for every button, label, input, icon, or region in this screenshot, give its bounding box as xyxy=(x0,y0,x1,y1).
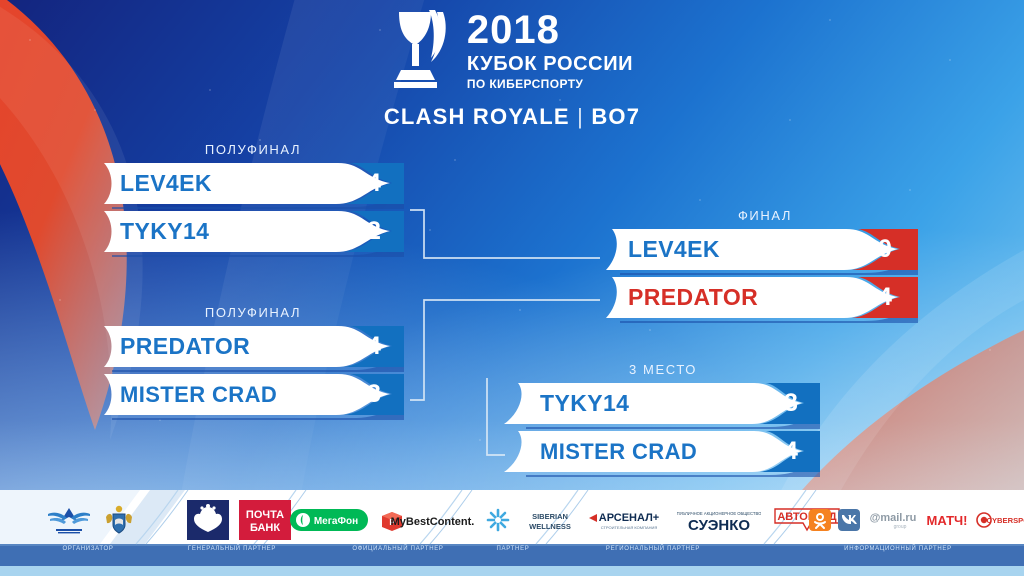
avtograd-logo[interactable]: АВТОГРАД xyxy=(771,506,843,534)
team-name: LEV4EK xyxy=(120,163,212,204)
team-name: PREDATOR xyxy=(120,326,250,367)
pochta-bank-logo[interactable]: ПОЧТА БАНК xyxy=(239,500,291,540)
bracket-row[interactable]: PREDATOR 4 xyxy=(606,277,918,318)
svg-text:MyBestContent.ru: MyBestContent.ru xyxy=(391,516,474,528)
svg-text:МегаФон: МегаФон xyxy=(314,516,358,527)
suenko-logo[interactable]: ПУБЛИЧНОЕ АКЦИОНЕРНОЕ ОБЩЕСТВО СУЭНКО xyxy=(677,506,761,534)
sponsor-labels: ОРГАНИЗАТОР ГЕНЕРАЛЬНЫЙ ПАРТНЕР ОФИЦИАЛЬ… xyxy=(0,546,1024,560)
team-name: PREDATOR xyxy=(628,277,758,318)
connector-to-third-place xyxy=(487,378,505,455)
bracket-row[interactable]: PREDATOR 4 xyxy=(104,326,404,367)
team-score: 4 xyxy=(354,326,394,367)
team-score: 0 xyxy=(864,229,906,270)
trophy-cup-icon xyxy=(391,8,453,92)
team-score: 4 xyxy=(354,163,394,204)
sponsor-bar: ПОЧТА БАНК МегаФон xyxy=(0,490,1024,576)
russia-eagle-emblem-logo[interactable] xyxy=(187,500,229,540)
match-third-place: TYKY14 3 MISTER CRAD 4 xyxy=(504,383,820,479)
mybestcontent-logo[interactable]: P MyBestContent.ru xyxy=(378,508,474,532)
cybersport-ru-logo[interactable]: CYBERSPORT.RU xyxy=(975,510,1024,530)
sponsor-logos: ПОЧТА БАНК МегаФон xyxy=(0,496,1024,544)
team-score: 3 xyxy=(770,383,812,424)
mailru-group-logo[interactable]: @mail.ru group xyxy=(867,509,919,531)
connector-semifinal1-to-final xyxy=(410,210,600,258)
bracket-row[interactable]: TYKY14 3 xyxy=(504,383,820,424)
header: 2018 КУБОК РОССИИ ПО КИБЕРСПОРТУ CLASH R… xyxy=(0,8,1024,130)
svg-text:СТРОИТЕЛЬНАЯ КОМПАНИЯ: СТРОИТЕЛЬНАЯ КОМПАНИЯ xyxy=(601,525,658,530)
federation-esports-russia-logo[interactable] xyxy=(46,505,92,535)
svg-text:SIBERIAN: SIBERIAN xyxy=(532,512,568,521)
team-name: MISTER CRAD xyxy=(120,374,277,415)
bracket-row[interactable]: MISTER CRAD 4 xyxy=(504,431,820,472)
svg-text:CYBERSPORT.RU: CYBERSPORT.RU xyxy=(987,516,1024,525)
stage-label-semifinal-2: ПОЛУФИНАЛ xyxy=(108,305,398,320)
sponsor-label-organizer: ОРГАНИЗАТОР xyxy=(62,546,113,552)
svg-text:ПОЧТА: ПОЧТА xyxy=(246,509,284,521)
svg-text:СУЭНКО: СУЭНКО xyxy=(688,517,750,534)
sponsor-label-general-partner: ГЕНЕРАЛЬНЫЙ ПАРТНЕР xyxy=(188,546,276,552)
team-name: TYKY14 xyxy=(120,211,209,252)
arsenal-plus-logo[interactable]: АРСЕНАЛ+ СТРОИТЕЛЬНАЯ КОМПАНИЯ xyxy=(587,507,667,533)
svg-text:МАТЧ!: МАТЧ! xyxy=(927,513,968,528)
odnoklassniki-logo[interactable] xyxy=(809,509,831,531)
svg-text:БАНК: БАНК xyxy=(250,522,280,534)
sponsor-label-official-partner: ОФИЦИАЛЬНЫЙ ПАРТНЕР xyxy=(352,546,443,552)
svg-text:АРСЕНАЛ+: АРСЕНАЛ+ xyxy=(599,512,659,524)
game-separator: | xyxy=(577,104,584,129)
bracket-row[interactable]: TYKY14 2 xyxy=(104,211,404,252)
svg-text:group: group xyxy=(894,524,907,530)
sponsor-group-regional-partner: АРСЕНАЛ+ СТРОИТЕЛЬНАЯ КОМПАНИЯ ПУБЛИЧНОЕ… xyxy=(596,496,834,544)
game-name: CLASH ROYALE xyxy=(384,104,570,129)
sponsor-group-info-partner: @mail.ru group МАТЧ! CYBERSPORT.RU xyxy=(834,496,1024,544)
bracket-row[interactable]: LEV4EK 4 xyxy=(104,163,404,204)
stage-label-semifinal-1: ПОЛУФИНАЛ xyxy=(108,142,398,157)
team-name: LEV4EK xyxy=(628,229,720,270)
sponsor-group-partner: SIBERIAN WELLNESS xyxy=(468,496,596,544)
siberian-wellness-logo[interactable]: SIBERIAN WELLNESS xyxy=(480,506,584,534)
sponsor-label-partner: ПАРТНЕР xyxy=(497,546,530,552)
svg-text:WELLNESS: WELLNESS xyxy=(529,522,571,531)
bracket-row[interactable]: LEV4EK 0 xyxy=(606,229,918,270)
game-format: BO7 xyxy=(591,104,640,129)
tyumen-region-coat-of-arms-logo[interactable] xyxy=(102,503,136,537)
match-semifinal-1: LEV4EK 4 TYKY14 2 xyxy=(104,163,404,259)
sponsor-group-organizer xyxy=(0,496,182,544)
svg-text:ПУБЛИЧНОЕ АКЦИОНЕРНОЕ ОБЩЕСТВО: ПУБЛИЧНОЕ АКЦИОНЕРНОЕ ОБЩЕСТВО xyxy=(677,511,761,516)
svg-text:@mail.ru: @mail.ru xyxy=(870,512,917,524)
sponsor-label-regional-partner: РЕГИОНАЛЬНЫЙ ПАРТНЕР xyxy=(606,546,700,552)
sponsor-group-general-partner: ПОЧТА БАНК xyxy=(182,496,296,544)
megafon-logo[interactable]: МегаФон xyxy=(290,509,368,531)
team-score: 3 xyxy=(354,374,394,415)
team-score: 4 xyxy=(864,277,906,318)
cup-subtitle: ПО КИБЕРСПОРТУ xyxy=(467,78,633,90)
bracket-row[interactable]: MISTER CRAD 3 xyxy=(104,374,404,415)
team-score: 2 xyxy=(354,211,394,252)
sponsor-group-official-partner: МегаФон P MyBestContent.ru xyxy=(296,496,468,544)
sponsor-label-info-partner: ИНФОРМАЦИОННЫЙ ПАРТНЕР xyxy=(844,546,952,552)
cup-title: КУБОК РОССИИ xyxy=(467,54,633,74)
team-name: TYKY14 xyxy=(540,383,629,424)
team-name: MISTER CRAD xyxy=(540,431,697,472)
year-title: 2018 xyxy=(467,10,633,50)
team-score: 4 xyxy=(770,431,812,472)
stage-label-third-place: 3 МЕСТО xyxy=(508,362,818,377)
stage-label-final: ФИНАЛ xyxy=(610,208,920,223)
match-tv-logo[interactable]: МАТЧ! xyxy=(926,510,968,530)
match-final: LEV4EK 0 PREDATOR 4 xyxy=(606,229,918,325)
tournament-bracket-graphic: 2018 КУБОК РОССИИ ПО КИБЕРСПОРТУ CLASH R… xyxy=(0,0,1024,576)
match-semifinal-2: PREDATOR 4 MISTER CRAD 3 xyxy=(104,326,404,422)
vkontakte-logo[interactable] xyxy=(838,509,860,531)
game-title-bar: CLASH ROYALE | BO7 xyxy=(384,104,640,130)
